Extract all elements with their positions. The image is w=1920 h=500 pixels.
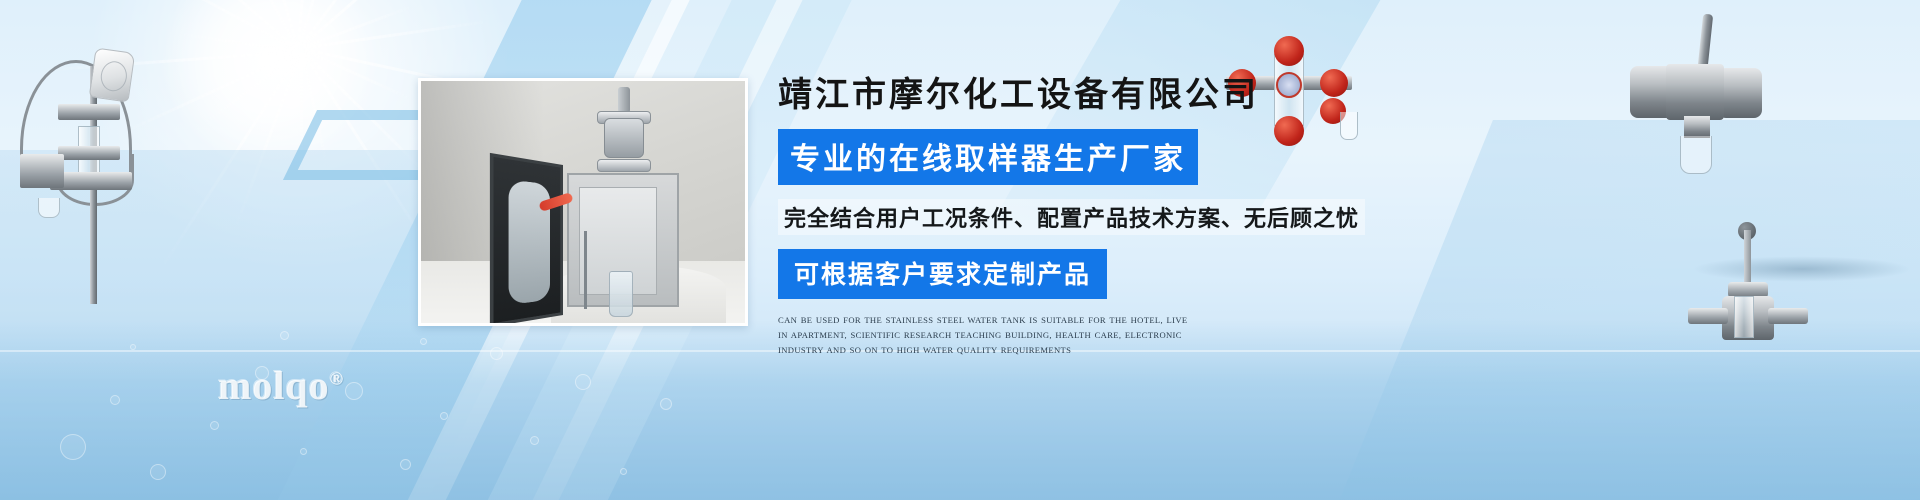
bubble bbox=[530, 436, 539, 445]
right-valve-illustration bbox=[1622, 22, 1772, 182]
bottom-valve-illustration bbox=[1690, 230, 1810, 370]
bubble bbox=[490, 347, 503, 360]
valve-stem bbox=[1744, 230, 1751, 286]
bubble bbox=[280, 331, 289, 340]
valve-sight-glass bbox=[1734, 296, 1754, 338]
photo-flange-bottom bbox=[597, 159, 651, 172]
bubble bbox=[110, 395, 120, 405]
cta-label: 可根据客户要求定制产品 bbox=[794, 261, 1091, 289]
valve-core-body bbox=[1666, 64, 1724, 120]
bubble bbox=[300, 448, 307, 455]
english-caption: CAN BE USED FOR THE STAINLESS STEEL WATE… bbox=[778, 313, 1193, 358]
bubble bbox=[210, 421, 219, 430]
bubble bbox=[420, 338, 427, 345]
bubble bbox=[575, 374, 591, 390]
subheadline-text: 完全结合用户工况条件、配置产品技术方案、无后顾之忧 bbox=[778, 199, 1365, 235]
side-relief-valve bbox=[20, 154, 64, 188]
bubble bbox=[620, 468, 627, 475]
bubble bbox=[400, 459, 411, 470]
valve-block-middle bbox=[58, 146, 120, 160]
product-photo bbox=[418, 78, 748, 326]
cta-button[interactable]: 可根据客户要求定制产品 bbox=[778, 249, 1107, 299]
sample-cup bbox=[38, 198, 60, 218]
sample-jar bbox=[1680, 136, 1712, 174]
photo-valve-stem bbox=[618, 87, 630, 113]
transmitter-housing bbox=[89, 47, 136, 102]
valve-block-upper bbox=[58, 104, 120, 120]
promo-banner: 靖江市摩尔化工设备有限公司 专业的在线取样器生产厂家 完全结合用户工况条件、配置… bbox=[0, 0, 1920, 500]
registered-mark-icon: ® bbox=[330, 369, 344, 389]
photo-sample-bottle bbox=[609, 271, 633, 317]
bubble bbox=[130, 344, 136, 350]
bubble-decoration bbox=[0, 320, 720, 500]
headline-highlight-bar: 专业的在线取样器生产厂家 bbox=[778, 129, 1198, 185]
left-equipment-illustration bbox=[14, 26, 174, 306]
photo-cabinet-door bbox=[490, 153, 563, 326]
watermark-text: molqo bbox=[218, 363, 330, 408]
banner-copy-block: 靖江市摩尔化工设备有限公司 专业的在线取样器生产厂家 完全结合用户工况条件、配置… bbox=[778, 76, 1418, 358]
bubble bbox=[150, 464, 166, 480]
flange-right bbox=[1718, 68, 1762, 118]
valve-arm-right bbox=[1768, 308, 1808, 324]
photo-door-window bbox=[509, 179, 550, 305]
bubble bbox=[60, 434, 86, 460]
photo-sample-tube bbox=[584, 231, 587, 309]
headline-text: 专业的在线取样器生产厂家 bbox=[790, 143, 1186, 176]
valve-neck bbox=[1684, 116, 1710, 138]
bubble bbox=[660, 398, 672, 410]
company-name: 靖江市摩尔化工设备有限公司 bbox=[778, 76, 1418, 117]
bubble bbox=[440, 412, 448, 420]
handwheel-top-icon bbox=[1274, 36, 1304, 66]
bubble bbox=[345, 382, 363, 400]
photo-valve-body bbox=[604, 118, 644, 158]
valve-arm-left bbox=[1688, 308, 1728, 324]
photo-valve-head bbox=[597, 105, 651, 177]
watermark-logo: molqo® bbox=[218, 362, 344, 409]
